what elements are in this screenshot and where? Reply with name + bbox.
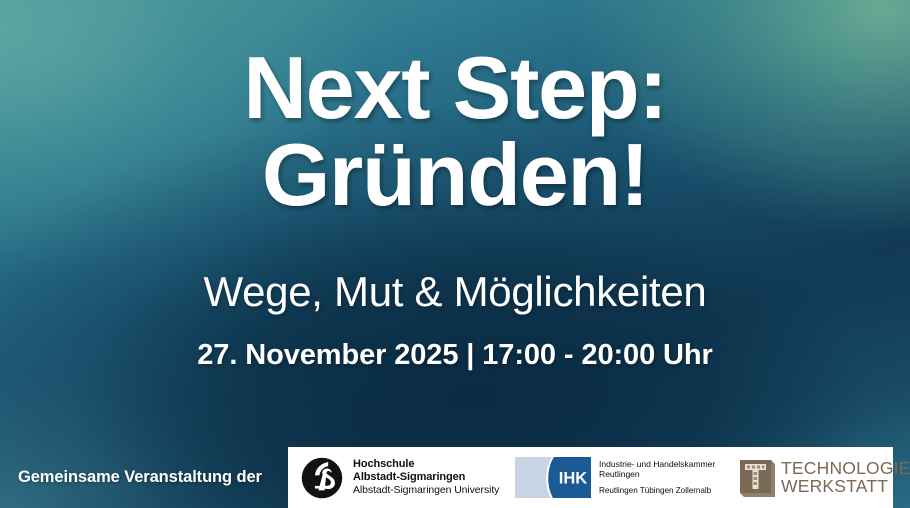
svg-text:IHK: IHK <box>559 470 588 488</box>
logo-hochschule-line-1: Hochschule <box>353 458 499 471</box>
as-monogram-icon <box>300 456 344 500</box>
logo-technologie-line-2: WERKSTATT <box>781 478 910 496</box>
logo-technologie-werkstatt-text: TECHNOLOGIE WERKSTATT <box>781 460 910 495</box>
logo-ihk-reutlingen: IHK Industrie- und Handelskammer Reutlin… <box>515 447 738 508</box>
event-date-time: 27. November 2025 | 17:00 - 20:00 Uhr <box>0 339 910 372</box>
subtitle: Wege, Mut & Möglichkeiten <box>0 269 910 314</box>
event-banner: Next Step:Gründen! Wege, Mut & Möglichke… <box>0 0 910 508</box>
sponsor-logo-strip: Hochschule Albstadt-Sigmaringen Albstadt… <box>288 447 893 508</box>
logo-ihk-text: Industrie- und Handelskammer Reutlingen … <box>599 459 715 496</box>
logo-hochschule-line-3: Albstadt-Sigmaringen University <box>353 484 499 496</box>
logo-hochschule-line-2: Albstadt-Sigmaringen <box>353 471 499 484</box>
headline-line-1: Next Step: <box>243 38 666 137</box>
logo-technologie-line-1: TECHNOLOGIE <box>781 460 910 478</box>
ihk-block-icon: IHK <box>515 457 591 498</box>
headline-block: Next Step:Gründen! <box>0 44 910 218</box>
technologie-werkstatt-t-icon <box>738 459 775 497</box>
logo-hochschule-text: Hochschule Albstadt-Sigmaringen Albstadt… <box>353 458 499 496</box>
logo-technologie-werkstatt: TECHNOLOGIE WERKSTATT <box>738 447 893 508</box>
logo-ihk-line-3: Reutlingen Tübingen Zollernalb <box>599 486 715 496</box>
headline-line-2: Gründen! <box>0 131 910 218</box>
footer-caption: Gemeinsame Veranstaltung der <box>18 468 262 487</box>
page-title: Next Step:Gründen! <box>0 44 910 218</box>
logo-hochschule-albstadt-sigmaringen: Hochschule Albstadt-Sigmaringen Albstadt… <box>288 447 515 508</box>
logo-ihk-line-2: Reutlingen <box>599 469 715 479</box>
logo-ihk-line-1: Industrie- und Handelskammer <box>599 459 715 469</box>
